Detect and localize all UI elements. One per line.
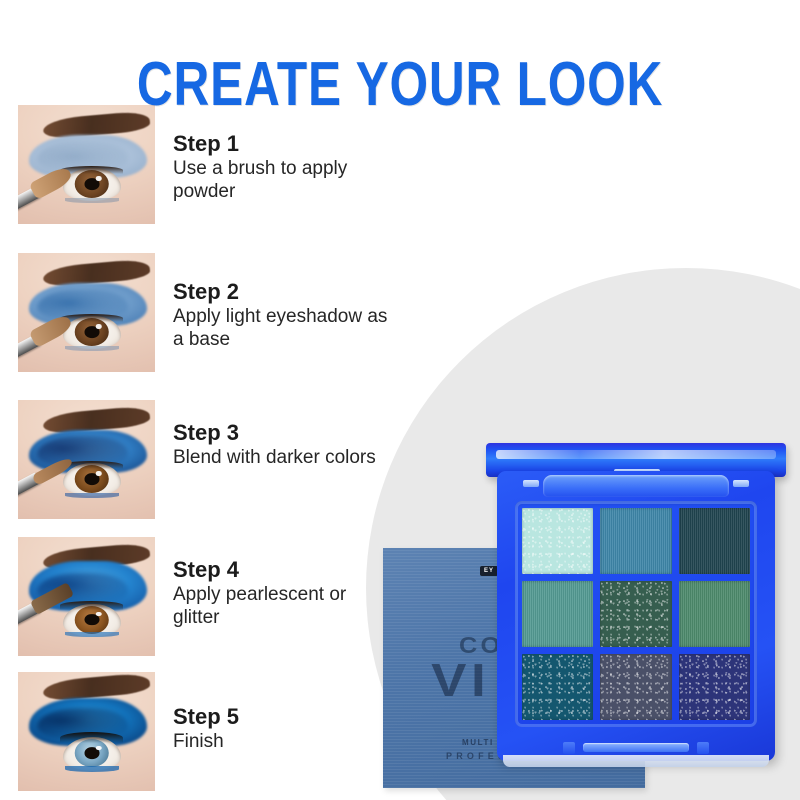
step-item-1: Step 1 Use a brush to apply powder: [18, 105, 388, 224]
step-item-5: Step 5 Finish: [18, 672, 239, 791]
step-title: Step 5: [173, 704, 239, 729]
step-title: Step 3: [173, 420, 376, 445]
pan-bottom-center[interactable]: [600, 654, 671, 720]
eyeshadow-palette: [486, 443, 786, 763]
palette-case: [497, 471, 775, 761]
step-description: Blend with darker colors: [173, 446, 376, 469]
palette-tray: [515, 501, 757, 727]
step-title: Step 2: [173, 279, 388, 304]
page-title: CREATE YOUR LOOK: [80, 54, 720, 116]
poster-canvas: CREATE YOUR LOOK: [0, 0, 800, 800]
pan-bottom-right[interactable]: [679, 654, 750, 720]
pan-top-left[interactable]: [522, 508, 593, 574]
step-photo-4: [18, 537, 155, 656]
pan-top-center[interactable]: [600, 508, 671, 574]
step-title: Step 1: [173, 131, 388, 156]
step-item-2: Step 2 Apply light eyeshadow as a base: [18, 253, 388, 372]
pan-middle-center[interactable]: [600, 581, 671, 647]
pan-middle-left[interactable]: [522, 581, 593, 647]
pan-grid: [522, 508, 750, 720]
palette-hinge: [543, 475, 729, 497]
palette-latch[interactable]: [583, 743, 689, 752]
step-description: Apply pearlescent or glitter: [173, 583, 388, 629]
step-description: Finish: [173, 730, 239, 753]
step-item-4: Step 4 Apply pearlescent or glitter: [18, 537, 388, 656]
step-item-3: Step 3 Blend with darker colors: [18, 400, 376, 519]
pan-top-right[interactable]: [679, 508, 750, 574]
step-description: Apply light eyeshadow as a base: [173, 305, 388, 351]
pan-bottom-left[interactable]: [522, 654, 593, 720]
step-photo-3: [18, 400, 155, 519]
step-photo-1: [18, 105, 155, 224]
box-brand-line2: VI: [431, 653, 490, 707]
step-photo-5: [18, 672, 155, 791]
step-title: Step 4: [173, 557, 388, 582]
steps-list: Step 1 Use a brush to apply powder: [0, 0, 420, 800]
pan-middle-right[interactable]: [679, 581, 750, 647]
step-photo-2: [18, 253, 155, 372]
step-description: Use a brush to apply powder: [173, 157, 388, 203]
